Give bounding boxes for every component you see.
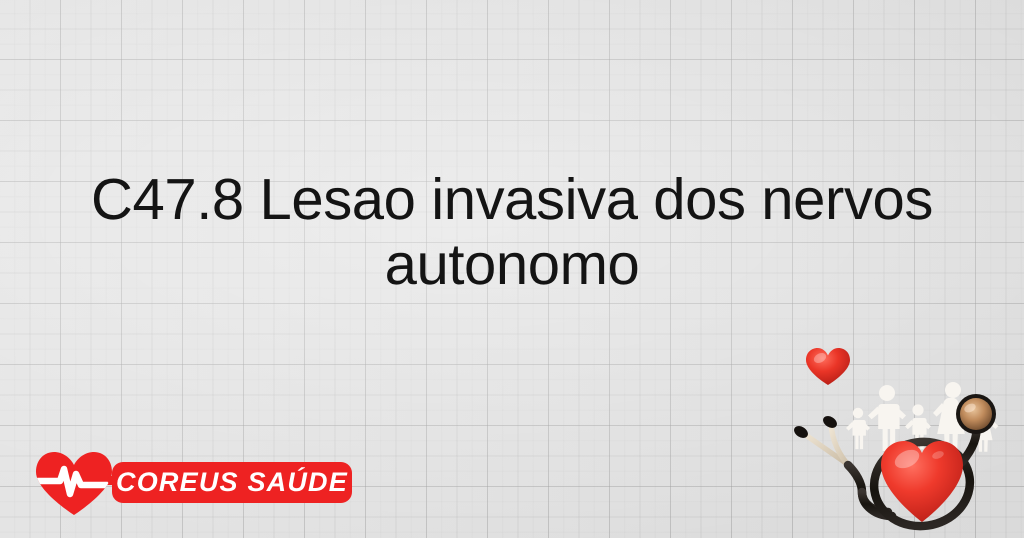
title-block: C47.8 Lesao invasiva dos nervos autonomo	[60, 168, 964, 298]
large-heart-icon	[881, 441, 963, 522]
logo-brand-text: COREUS SAÚDE	[116, 466, 348, 497]
small-heart-icon	[806, 348, 850, 385]
stethoscope-chestpiece-icon	[956, 394, 996, 434]
icd-code-card: C47.8 Lesao invasiva dos nervos autonomo	[0, 0, 1024, 538]
coreus-saude-logo[interactable]: COREUS SAÚDE	[28, 447, 358, 519]
page-title: C47.8 Lesao invasiva dos nervos autonomo	[60, 168, 964, 298]
medical-collage	[770, 340, 1024, 540]
